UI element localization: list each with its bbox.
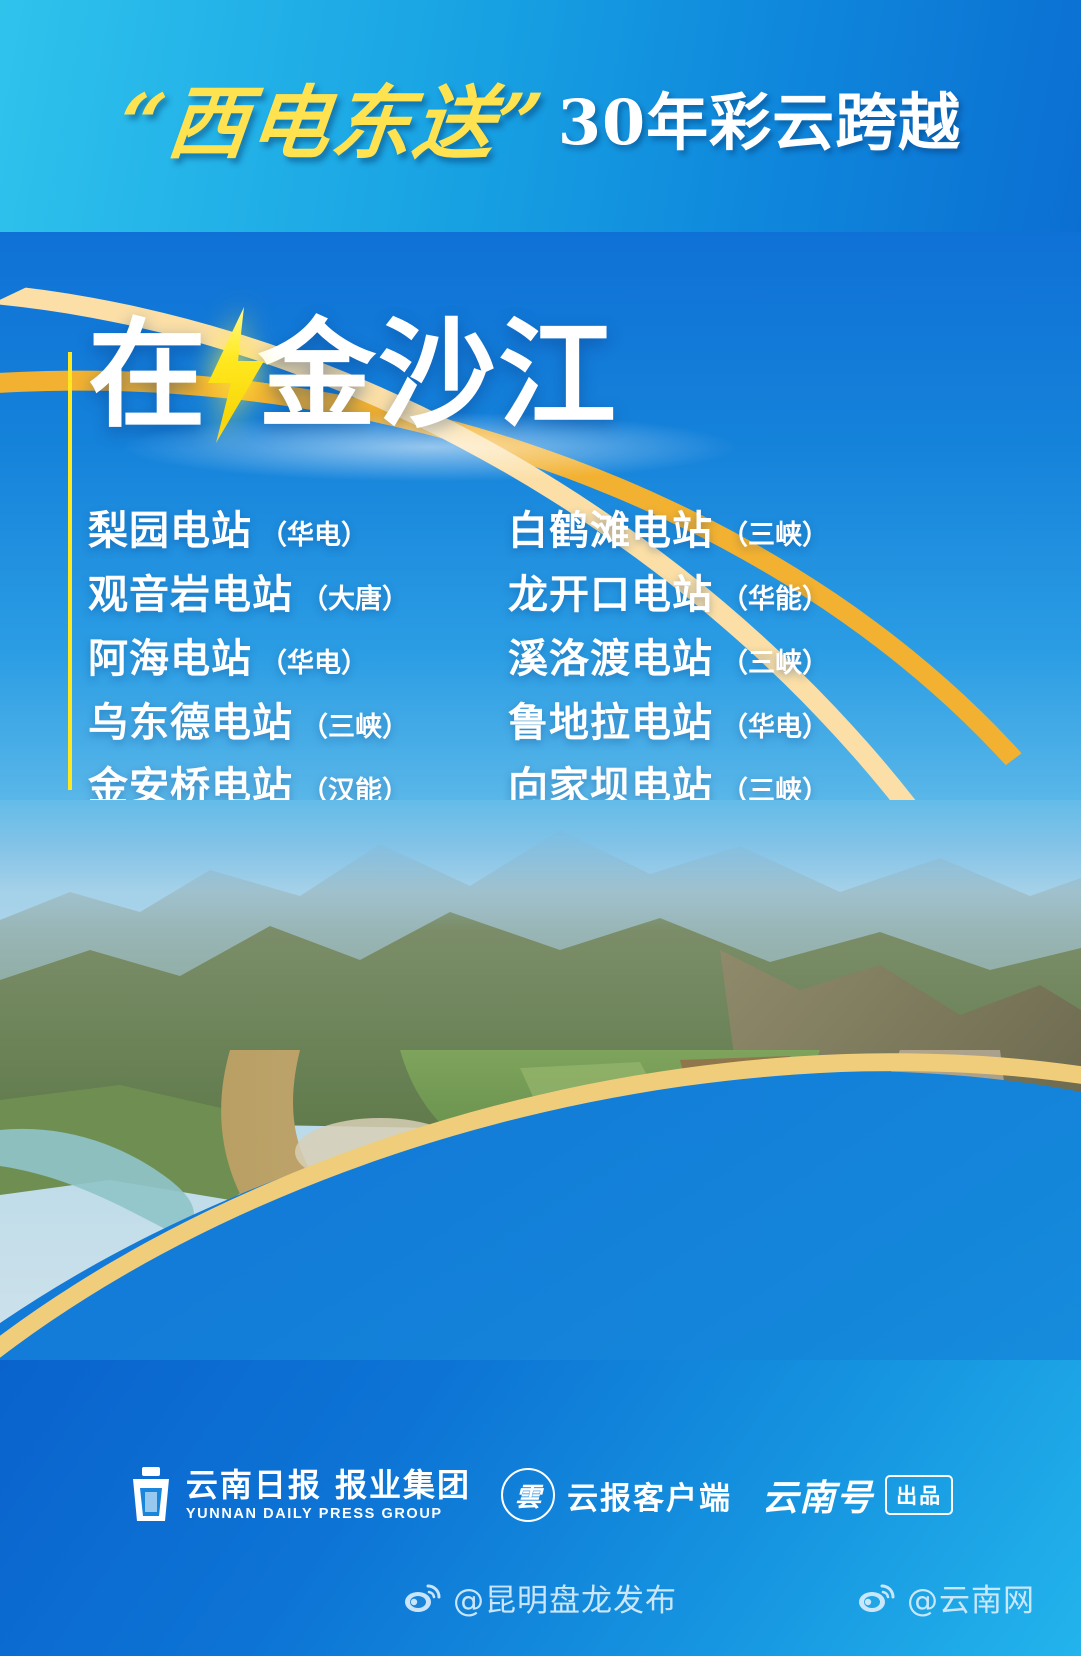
header-title: “西电东送” 30年彩云跨越 (0, 58, 1081, 188)
station-name: 梨园电站 (88, 498, 252, 556)
station-name: 白鹤滩电站 (508, 498, 713, 556)
yunnanhao-label: 云南号 (762, 1469, 873, 1521)
station-row: 观音岩电站 （大唐） 龙开口电站 （华能） (88, 556, 948, 620)
landscape-photo (0, 800, 1081, 1360)
station-item-right: 鲁地拉电站 （华电） (508, 690, 928, 748)
station-name: 龙开口电站 (508, 562, 713, 620)
station-row: 梨园电站 （华电） 白鹤滩电站 （三峡） (88, 492, 948, 556)
yunbao-app-label: 云报客户端 (567, 1473, 732, 1518)
station-name: 阿海电站 (88, 626, 252, 684)
station-row: 阿海电站 （华电） 溪洛渡电站 （三峡） (88, 620, 948, 684)
station-item-right: 龙开口电站 （华能） (508, 562, 928, 620)
station-operator: （华电） (260, 641, 368, 680)
station-operator: （华电） (260, 513, 368, 552)
page-title: 在 金沙江 (88, 300, 618, 450)
logo-yunbao-app: 雲 云报客户端 (501, 1468, 732, 1522)
page-title-prefix: 在 (88, 316, 208, 434)
station-item-right: 白鹤滩电站 （三峡） (508, 498, 928, 556)
station-list: 梨园电站 （华电） 白鹤滩电站 （三峡） 观音岩电站 （大唐） 龙开口电站 （华… (88, 492, 948, 812)
weibo-icon (858, 1583, 896, 1613)
station-item-left: 乌东德电站 （三峡） (88, 690, 508, 748)
station-item-left: 梨园电站 （华电） (88, 498, 508, 556)
produced-by-badge: 出品 (885, 1475, 953, 1515)
station-operator: （三峡） (721, 641, 829, 680)
yun-circle-icon: 雲 (501, 1468, 555, 1522)
station-name: 观音岩电站 (88, 562, 293, 620)
ydpg-name-cn: 云南日报 报业集团 (186, 1469, 471, 1501)
lightning-bolt-icon (198, 305, 272, 445)
weibo-handle-yunnan[interactable]: @云南网 (858, 1575, 1035, 1620)
station-operator: （华电） (721, 705, 829, 744)
weibo-handle-text: @云南网 (907, 1575, 1035, 1620)
station-name: 乌东德电站 (88, 690, 293, 748)
header-quoted-phrase: “西电东送” (116, 83, 548, 163)
cup-emblem-icon (128, 1466, 174, 1524)
ydpg-text-block: 云南日报 报业集团 YUNNAN DAILY PRESS GROUP (186, 1469, 471, 1522)
station-item-right: 溪洛渡电站 （三峡） (508, 626, 928, 684)
station-item-left: 阿海电站 （华电） (88, 626, 508, 684)
ydpg-name-en: YUNNAN DAILY PRESS GROUP (186, 1507, 471, 1522)
station-item-left: 观音岩电站 （大唐） (88, 562, 508, 620)
station-name: 溪洛渡电站 (508, 626, 713, 684)
weibo-icon (404, 1583, 442, 1613)
station-operator: （三峡） (721, 513, 829, 552)
logo-yunnan-daily-press-group: 云南日报 报业集团 YUNNAN DAILY PRESS GROUP (128, 1466, 471, 1524)
station-name: 鲁地拉电站 (508, 690, 713, 748)
logo-yunnanhao: 云南号 出品 (762, 1469, 953, 1521)
title-accent-bar (68, 352, 72, 790)
station-operator: （三峡） (301, 705, 409, 744)
station-row: 乌东德电站 （三峡） 鲁地拉电站 （华电） (88, 684, 948, 748)
weibo-handle-text: @昆明盘龙发布 (453, 1575, 677, 1620)
header-subtitle: 30年彩云跨越 (558, 92, 961, 154)
station-operator: （华能） (721, 577, 829, 616)
page-title-suffix: 金沙江 (258, 316, 618, 434)
station-operator: （大唐） (301, 577, 409, 616)
poster-root: “西电东送” 30年彩云跨越 在 金沙江 (0, 0, 1081, 1656)
footer-handles: @昆明盘龙发布 @云南网 (0, 1575, 1081, 1645)
photo-top-fade (0, 800, 1081, 930)
footer-logo-bar: 云南日报 报业集团 YUNNAN DAILY PRESS GROUP 雲 云报客… (0, 1440, 1081, 1550)
